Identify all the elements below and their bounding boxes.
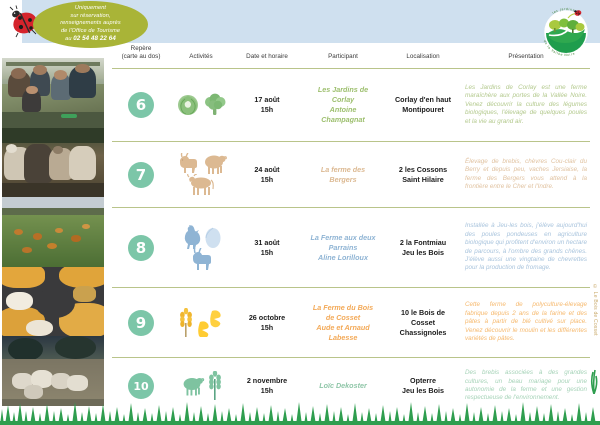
badge-phone: 02 54 48 22 64: [73, 35, 116, 42]
marker-badge: 7: [128, 162, 154, 188]
pasta-farfalle-icon: [195, 309, 225, 337]
wheat-icon: [178, 308, 194, 338]
column-header-date: Date et horaire: [232, 44, 302, 61]
photo-pasta-varieties: [2, 267, 104, 337]
row-marker: 8: [112, 233, 170, 263]
row-activities: [170, 306, 232, 340]
row-presentation: Cette ferme de polyculture-élevage fabri…: [462, 299, 590, 345]
row-participant: Les Jardins de Corlay Antoine Champagnat: [302, 83, 384, 127]
table-row: 6: [112, 69, 590, 142]
marker-badge: 8: [128, 235, 154, 261]
row-location: 10 le Bois de Cosset Chassignoles: [384, 306, 462, 340]
photo-sheep-dusk: [2, 336, 104, 406]
column-header-marker: Repère (carte au dos): [112, 44, 170, 61]
table-header-row: Repère (carte au dos) Activités Date et …: [112, 44, 590, 69]
row-date: 2 novembre 15h: [232, 374, 302, 398]
hen-icon: [180, 225, 202, 249]
row-activities: [170, 223, 232, 272]
photo-goat-herd: [2, 128, 104, 198]
goat-icon: [188, 248, 214, 270]
photo-strip: [2, 58, 104, 406]
marker-badge: 6: [128, 92, 154, 118]
row-activities: [170, 151, 232, 198]
badge-line-3: renseignements auprès: [60, 20, 121, 28]
grass-sprig-icon: [589, 360, 599, 394]
row-participant: La Ferme du Bois de Cosset Aude et Arnau…: [302, 301, 384, 345]
badge-line-5-prefix: au: [65, 36, 73, 42]
column-header-participant: Participant: [302, 44, 384, 61]
sheep-icon: [201, 153, 227, 175]
poster-root: Uniquement sur réservation, renseignemen…: [0, 0, 600, 425]
reservation-badge-text: Uniquement sur réservation, renseignemen…: [60, 5, 121, 44]
row-location: 2 les Cossons Saint Hilaire: [384, 163, 462, 187]
badge-line-2: sur réservation,: [60, 13, 121, 21]
photo-chickens-field: [2, 197, 104, 267]
reservation-badge: Uniquement sur réservation, renseignemen…: [33, 1, 148, 48]
broccoli-icon: [202, 93, 228, 117]
goat-icon: [176, 153, 200, 175]
sheep-icon: [180, 375, 206, 397]
row-date: 17 août 15h: [232, 93, 302, 117]
row-presentation: Élevage de brebis, chèvres Cou-clair du …: [462, 156, 590, 194]
row-participant: La ferme des Bergers: [302, 163, 384, 187]
row-date: 24 août 15h: [232, 163, 302, 187]
row-location: Opterre Jeu les Bois: [384, 374, 462, 398]
schedule-table: Repère (carte au dos) Activités Date et …: [112, 44, 590, 414]
marker-badge: 9: [128, 310, 154, 336]
row-activities: [170, 90, 232, 120]
table-row: 8: [112, 208, 590, 288]
row-participant: Loïc Dekoster: [302, 379, 384, 393]
wheat-icon: [207, 371, 223, 401]
egg-icon: [203, 225, 223, 249]
row-date: 26 octobre 15h: [232, 311, 302, 335]
row-presentation: Les Jardins de Corlay est une ferme mara…: [462, 82, 590, 128]
row-date: 31 août 15h: [232, 236, 302, 260]
row-marker: 7: [112, 160, 170, 190]
row-activities: [170, 369, 232, 403]
row-participant: La Ferme aux deux Parrains Aline Lorillo…: [302, 231, 384, 265]
badge-line-4: de l'Office de Tourisme: [60, 28, 121, 36]
row-location: Corlay d'en haut Montipouret: [384, 93, 462, 117]
row-marker: 9: [112, 308, 170, 338]
row-marker: 10: [112, 371, 170, 401]
badge-line-1: Uniquement: [60, 5, 121, 13]
photo-credit-row-9: © Le Bois de Cosset: [592, 284, 598, 336]
marker-badge: 10: [128, 373, 154, 399]
column-header-activities: Activités: [170, 44, 232, 61]
row-presentation: Installée à Jeu-les bois, j'élève aujour…: [462, 220, 590, 274]
column-header-location: Localisation: [384, 44, 462, 61]
row-marker: 6: [112, 90, 170, 120]
table-row: 9: [112, 288, 590, 358]
cow-icon: [186, 174, 216, 196]
row-location: 2 la Fontmiau Jeu les Bois: [384, 236, 462, 260]
table-row: 7: [112, 142, 590, 208]
photo-greenhouse-visitors: [2, 58, 104, 128]
column-header-presentation: Présentation: [462, 44, 590, 61]
grass-border: [0, 399, 600, 425]
cabbage-icon: [175, 92, 201, 118]
